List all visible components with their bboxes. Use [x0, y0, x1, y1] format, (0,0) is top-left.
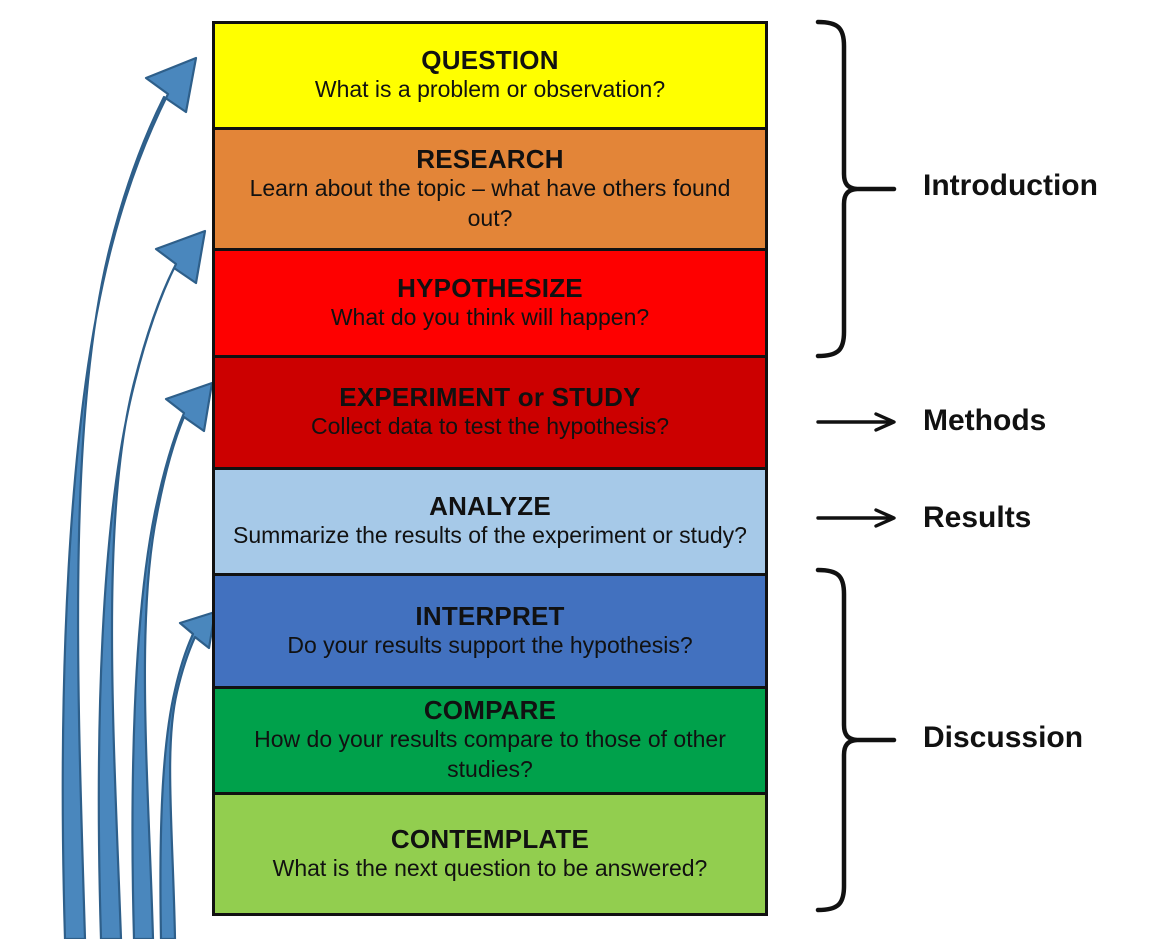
step-description: Collect data to test the hypothesis? [311, 412, 669, 441]
step-description: What is a problem or observation? [315, 75, 665, 104]
step-title: CONTEMPLATE [391, 825, 589, 854]
step-band-interpret[interactable]: INTERPRET Do your results support the hy… [215, 576, 765, 688]
step-title: ANALYZE [429, 492, 551, 521]
step-title: HYPOTHESIZE [397, 274, 583, 303]
step-band-question[interactable]: QUESTION What is a problem or observatio… [215, 24, 765, 130]
diagram-canvas: QUESTION What is a problem or observatio… [0, 0, 1156, 939]
step-title: QUESTION [421, 46, 558, 75]
step-description: What do you think will happen? [331, 303, 649, 332]
step-title-main: EXPERIMENT [339, 382, 510, 412]
cycle-arrow-2 [99, 231, 205, 939]
step-band-contemplate[interactable]: CONTEMPLATE What is the next question to… [215, 795, 765, 913]
section-label-results: Results [923, 503, 1031, 533]
step-description: How do your results compare to those of … [230, 725, 750, 784]
step-description: Summarize the results of the experiment … [233, 521, 747, 550]
step-description: What is the next question to be answered… [273, 854, 708, 883]
cycle-arrows-group [0, 0, 220, 939]
cycle-arrow-1 [63, 58, 196, 939]
step-title: COMPARE [424, 696, 556, 725]
section-label-methods: Methods [923, 406, 1046, 436]
step-title: INTERPRET [415, 602, 564, 631]
step-description: Learn about the topic – what have others… [230, 174, 750, 233]
step-description: Do your results support the hypothesis? [287, 631, 692, 660]
cycle-arrow-4 [160, 612, 215, 939]
section-label-discussion: Discussion [923, 723, 1083, 753]
step-band-experiment[interactable]: EXPERIMENT or STUDY Collect data to test… [215, 358, 765, 470]
step-band-compare[interactable]: COMPARE How do your results compare to t… [215, 689, 765, 795]
step-band-research[interactable]: RESEARCH Learn about the topic – what ha… [215, 130, 765, 251]
scientific-method-steps: QUESTION What is a problem or observatio… [212, 21, 768, 916]
step-title: EXPERIMENT or STUDY [339, 383, 640, 412]
introduction-brace [818, 22, 856, 356]
section-annotations: Introduction Methods Results Discussion [790, 0, 1156, 939]
step-title-tail: STUDY [552, 382, 641, 412]
section-label-introduction: Introduction [923, 171, 1098, 201]
step-band-hypothesize[interactable]: HYPOTHESIZE What do you think will happe… [215, 251, 765, 357]
step-title: RESEARCH [416, 145, 564, 174]
step-title-conjunction: or [510, 382, 551, 412]
discussion-brace [818, 570, 856, 910]
step-band-analyze[interactable]: ANALYZE Summarize the results of the exp… [215, 470, 765, 576]
